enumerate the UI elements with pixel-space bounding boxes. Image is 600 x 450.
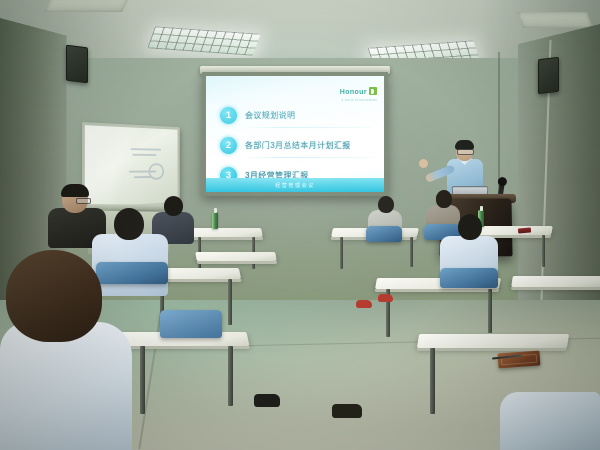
shoe <box>254 394 280 407</box>
logo-wordmark: Honour <box>340 89 367 96</box>
chair <box>440 268 498 288</box>
desk-leg <box>228 279 232 325</box>
glasses-icon <box>457 149 474 155</box>
slide-footer-band: 经营管理会议 <box>206 178 384 192</box>
red-shoe <box>356 300 372 308</box>
agenda-number-badge: 2 <box>220 137 237 154</box>
projection-screen: Honour a world of innovation 1 会议规划说明 2 … <box>202 72 388 196</box>
red-shoe <box>378 294 393 302</box>
meeting-room-photo: Honour a world of innovation 1 会议规划说明 2 … <box>0 0 600 450</box>
attendee-foreground-left <box>0 250 132 450</box>
chair <box>160 310 222 338</box>
attendee-head <box>436 190 452 208</box>
slide-footer-label: 经营管理会议 <box>275 182 315 189</box>
desk <box>195 252 277 261</box>
attendee-head <box>114 208 144 240</box>
ceiling-vent-left <box>44 0 130 12</box>
attendee-head <box>6 250 102 342</box>
agenda-item: 1 会议规划说明 <box>220 100 374 130</box>
agenda-item-label: 会议规划说明 <box>245 110 295 121</box>
wall-speaker-right <box>538 57 559 95</box>
attendee-foreground-right <box>500 382 600 450</box>
agenda-number-badge: 1 <box>220 107 237 124</box>
agenda-item-label: 各部门3月总结本月计划汇报 <box>245 140 351 151</box>
desk-leg <box>228 346 233 406</box>
leather-notebook <box>498 351 541 369</box>
attendee-hair <box>61 184 89 197</box>
agenda-rule <box>245 157 372 158</box>
desk-leg <box>430 348 435 414</box>
agenda-list: 1 会议规划说明 2 各部门3月总结本月计划汇报 3 3月经营管理汇报 <box>220 100 374 190</box>
presentation-slide: Honour a world of innovation 1 会议规划说明 2 … <box>206 76 384 192</box>
agenda-rule <box>245 127 372 128</box>
glasses-icon <box>76 198 91 204</box>
desk-leg <box>542 235 545 267</box>
desk-leg <box>488 289 492 333</box>
agenda-item: 2 各部门3月总结本月计划汇报 <box>220 130 374 160</box>
desk-leg <box>410 237 413 267</box>
logo-mark-icon <box>369 87 377 95</box>
attendee-head <box>378 196 394 213</box>
desk-leg <box>140 346 145 414</box>
presenter-hand <box>419 159 428 168</box>
attendee-torso <box>500 392 600 450</box>
wall-speaker-left <box>66 45 88 84</box>
desk <box>511 276 600 287</box>
shoe <box>332 404 362 418</box>
attendee-head <box>458 214 482 240</box>
desk-leg <box>340 237 343 269</box>
desk <box>417 334 569 348</box>
desk <box>189 228 263 237</box>
chair <box>366 226 402 242</box>
ceiling-vent-right <box>517 12 593 28</box>
water-bottle <box>212 212 218 229</box>
